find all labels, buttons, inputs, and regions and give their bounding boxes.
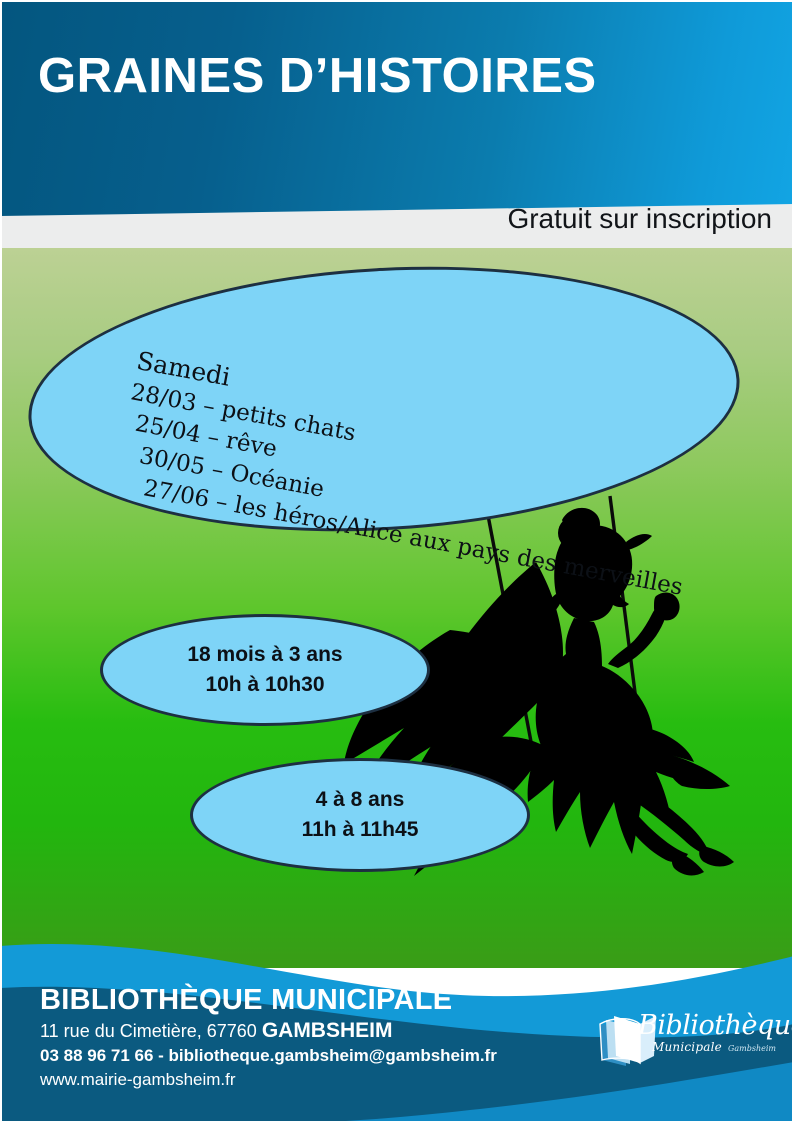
logo-town: Gambsheim	[728, 1044, 776, 1053]
logo-subtitle: Municipale	[652, 1040, 722, 1054]
subtitle-text: Gratuit sur inscription	[507, 203, 772, 235]
session-ellipse-children: 4 à 8 ans 11h à 11h45	[190, 758, 530, 872]
session-time-1: 10h à 10h30	[205, 670, 324, 700]
session-time-2: 11h à 11h45	[302, 815, 419, 845]
header-band	[0, 0, 794, 232]
footer-address-street: 11 rue du Cimetière, 67760	[40, 1021, 262, 1041]
logo-wordmark: Bibliothèque	[638, 1010, 794, 1041]
session-ellipse-toddlers: 18 mois à 3 ans 10h à 10h30	[100, 614, 430, 726]
footer-address: 11 rue du Cimetière, 67760 GAMBSHEIM	[40, 1019, 497, 1043]
poster-canvas: GRAINES D’HISTOIRES Gratuit sur inscript…	[0, 0, 794, 1123]
footer-phone-email[interactable]: 03 88 96 71 66 - bibliotheque.gambsheim@…	[40, 1046, 497, 1066]
footer-organisation: BIBLIOTHÈQUE MUNICIPALE	[40, 985, 497, 1015]
footer-contact-block: BIBLIOTHÈQUE MUNICIPALE 11 rue du Cimeti…	[40, 985, 497, 1090]
footer-website[interactable]: www.mairie-gambsheim.fr	[40, 1070, 497, 1090]
library-logo: Bibliothèque Municipale Gambsheim	[596, 1008, 772, 1074]
session-age-1: 18 mois à 3 ans	[187, 640, 342, 670]
footer-address-city: GAMBSHEIM	[262, 1019, 393, 1042]
session-age-2: 4 à 8 ans	[316, 785, 405, 815]
page-title: GRAINES D’HISTOIRES	[38, 48, 597, 104]
